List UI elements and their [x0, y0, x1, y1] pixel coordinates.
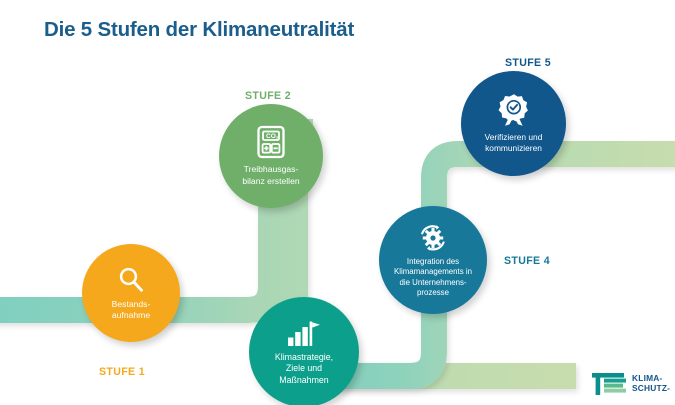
- brand-logo: KLIMA- SCHUTZ-: [592, 372, 670, 396]
- bar-chart-flag-icon: [286, 318, 322, 348]
- magnifier-icon: [116, 265, 146, 295]
- stufe-caption-2: STUFE 2: [245, 90, 291, 102]
- step-node-3[interactable]: Klimastrategie, Ziele und Maßnahmen: [249, 297, 359, 405]
- brand-logo-text: KLIMA- SCHUTZ-: [632, 374, 670, 393]
- svg-text:2: 2: [276, 136, 279, 141]
- award-badge-check-icon: [498, 93, 530, 127]
- step-label-5: Verifizieren und kommunizieren: [479, 132, 549, 154]
- svg-text:CO: CO: [266, 133, 276, 140]
- stufe-caption-5: STUFE 5: [505, 57, 551, 69]
- step-label-4: Integration des Klimamanagements in die …: [388, 257, 478, 298]
- stufe-caption-4: STUFE 4: [504, 255, 550, 267]
- step-node-4[interactable]: Integration des Klimamanagements in die …: [379, 206, 487, 314]
- step-label-1: Bestands- aufnahme: [106, 299, 157, 322]
- gear-cycle-icon: [416, 222, 450, 254]
- step-node-2[interactable]: CO 2 Treibhausgas- bilanz erstellen: [219, 104, 323, 208]
- step-label-3: Klimastrategie, Ziele und Maßnahmen: [269, 352, 339, 387]
- co2-calculator-icon: CO 2: [255, 125, 287, 159]
- infographic-canvas: Die 5 Stufen der Klimaneutralität: [0, 0, 675, 405]
- klimaschutz-bars-logo-icon: [592, 372, 626, 396]
- step-node-1[interactable]: Bestands- aufnahme: [82, 244, 180, 342]
- step-node-5[interactable]: Verifizieren und kommunizieren: [461, 71, 566, 176]
- stufe-caption-1: STUFE 1: [99, 366, 145, 378]
- step-label-2: Treibhausgas- bilanz erstellen: [236, 164, 305, 187]
